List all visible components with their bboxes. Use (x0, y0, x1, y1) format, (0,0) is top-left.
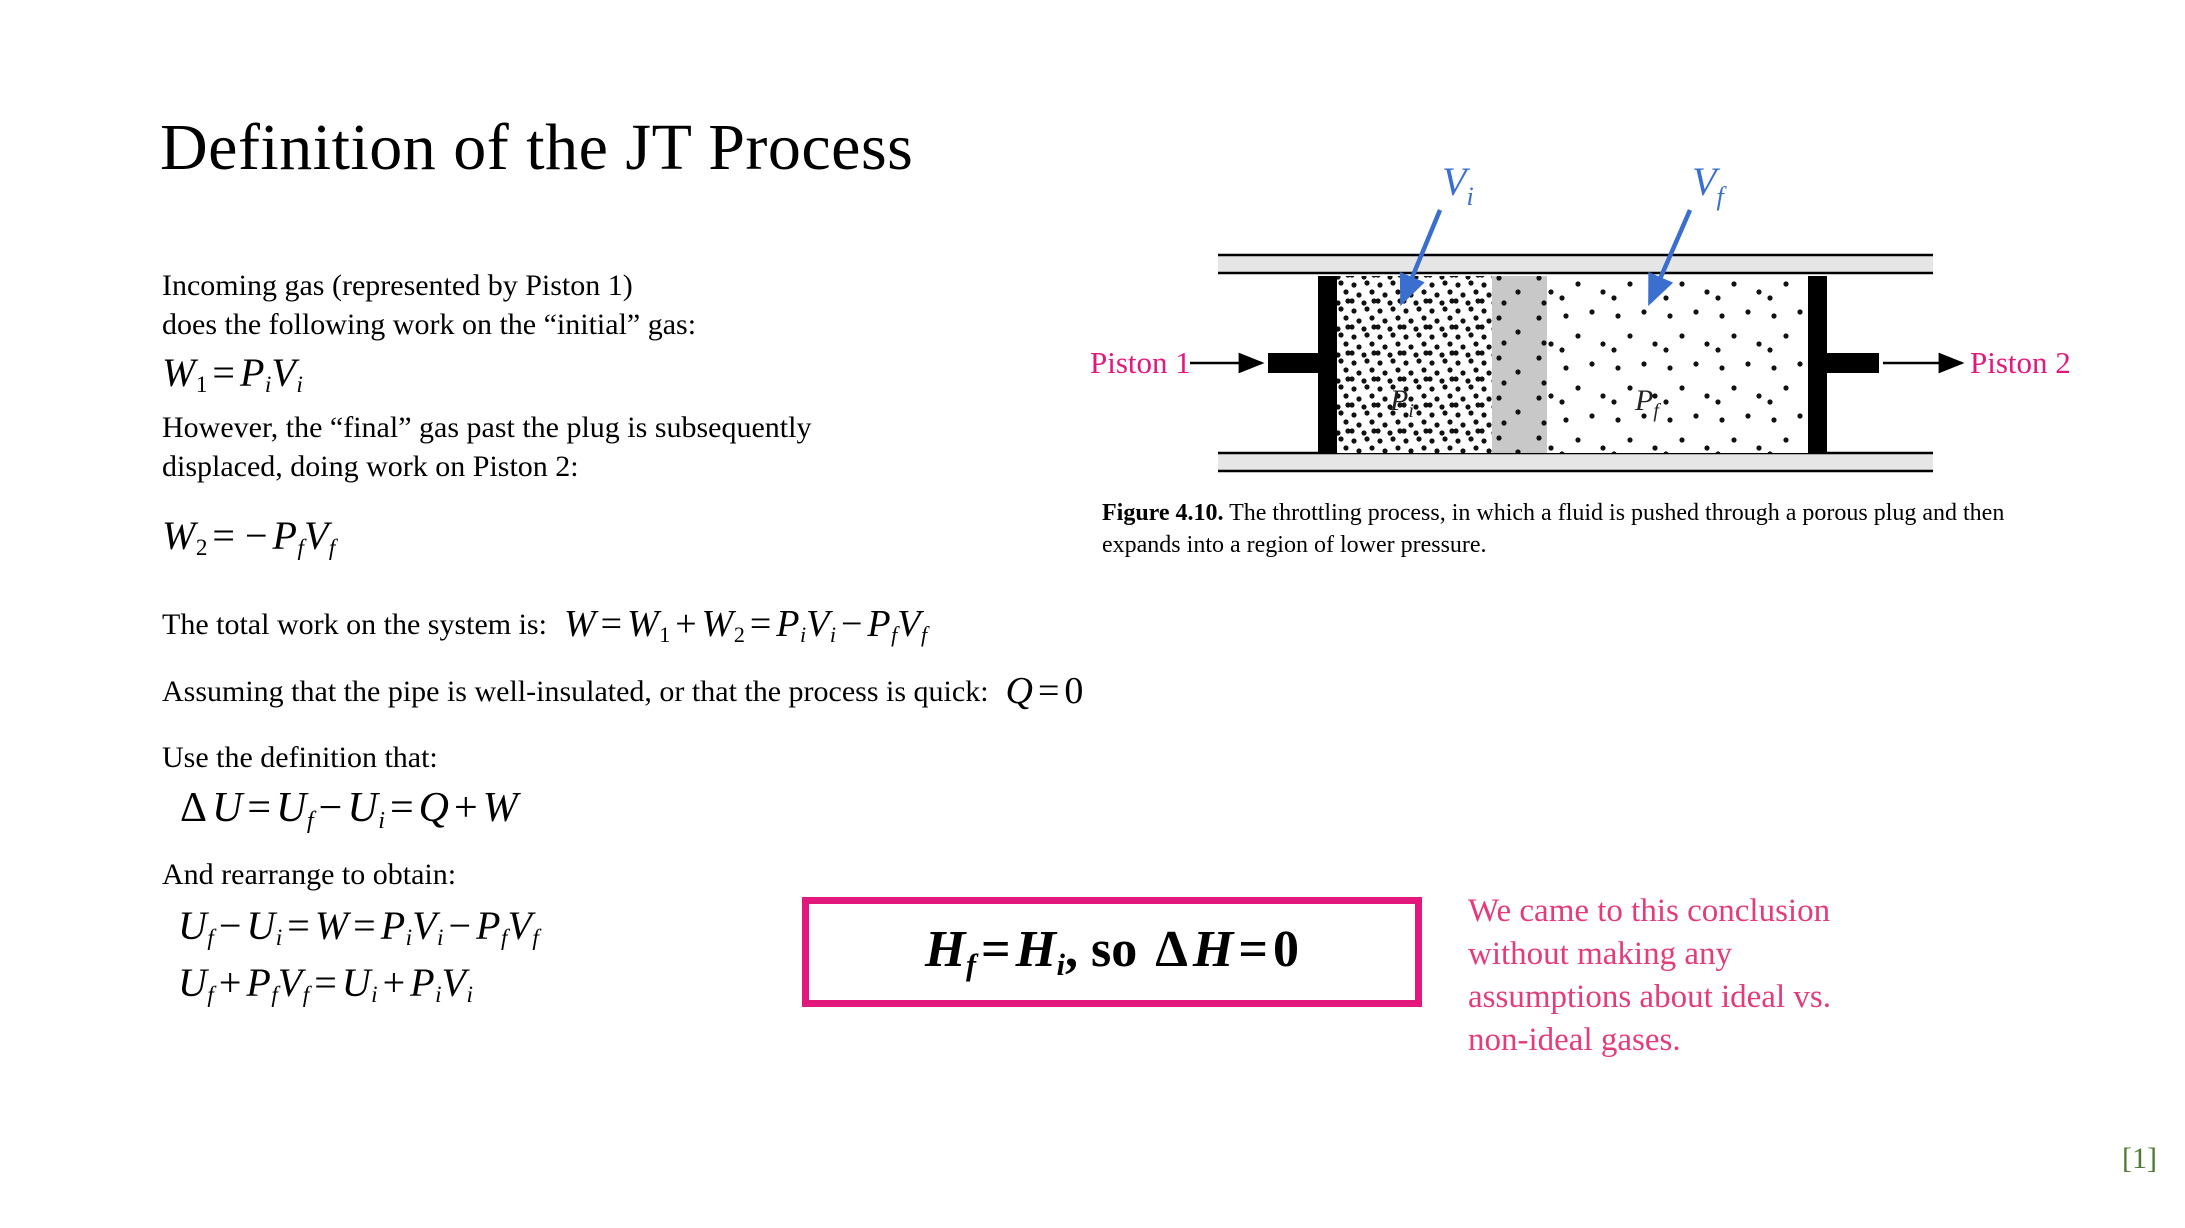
boxed-result-equation-text: Hf=Hi, so ΔH=0 (925, 924, 1299, 980)
label-vi: Vi (1442, 159, 1474, 211)
equation-enthalpy-expansion: Uf+PfVf=Ui+PiVi (178, 962, 473, 1008)
equation-q-zero: Q=0 (996, 670, 1083, 712)
boxed-result-equation: Hf=Hi, so ΔH=0 (802, 897, 1422, 1007)
figure-caption: Figure 4.10. The throttling process, in … (1102, 498, 2082, 561)
label-piston-1: Piston 1 (1090, 345, 1191, 380)
annotation-note: We came to this conclusion without makin… (1468, 890, 1988, 1062)
equation-delta-u: ΔU=Uf−Ui=Q+W (175, 786, 518, 833)
line-insulated-text: Assuming that the pipe is well-insulated… (162, 675, 989, 708)
page-title: Definition of the JT Process (160, 115, 913, 181)
gas-region-initial (1337, 276, 1492, 453)
pipe-top-wall (1218, 255, 1933, 273)
label-vf: Vf (1692, 159, 1727, 211)
paragraph-final-gas-line1: However, the “final” gas past the plug i… (162, 408, 811, 447)
figure-caption-line1: The throttling process, in which a fluid… (1224, 500, 1868, 526)
equation-u-final-minus-initial: Uf−Ui=W=PiVi−PfVf (178, 905, 539, 951)
line-use-definition: Use the definition that: (162, 738, 438, 777)
paragraph-final-gas-line2: displaced, doing work on Piston 2: (162, 447, 811, 486)
equation-w1: W1=PiVi (162, 352, 303, 398)
gas-region-final (1547, 276, 1808, 453)
citation-marker[interactable]: [1] (2122, 1144, 2157, 1174)
porous-plug (1492, 276, 1547, 453)
piston-2-body (1808, 276, 1879, 453)
paragraph-final-gas: However, the “final” gas past the plug i… (162, 408, 811, 486)
line-insulated: Assuming that the pipe is well-insulated… (162, 667, 1083, 716)
line-total-work-text: The total work on the system is: (162, 608, 547, 641)
equation-total-work: W=W1+W2=PiVi−PfVf (554, 603, 927, 645)
line-rearrange: And rearrange to obtain: (162, 855, 456, 894)
equation-w2: W2=−PfVf (162, 515, 335, 561)
annotation-note-line2: without making any (1468, 933, 1988, 976)
piston-1-body (1268, 276, 1337, 453)
label-piston-2: Piston 2 (1970, 345, 2071, 380)
annotation-note-line1: We came to this conclusion (1468, 890, 1988, 933)
pipe-bottom-wall (1218, 453, 1933, 471)
annotation-note-line4: non-ideal gases. (1468, 1019, 1988, 1062)
figure-caption-label: Figure 4.10. (1102, 500, 1224, 526)
line-total-work: The total work on the system is: W=W1+W2… (162, 600, 927, 650)
annotation-note-line3: assumptions about ideal vs. (1468, 976, 1988, 1019)
